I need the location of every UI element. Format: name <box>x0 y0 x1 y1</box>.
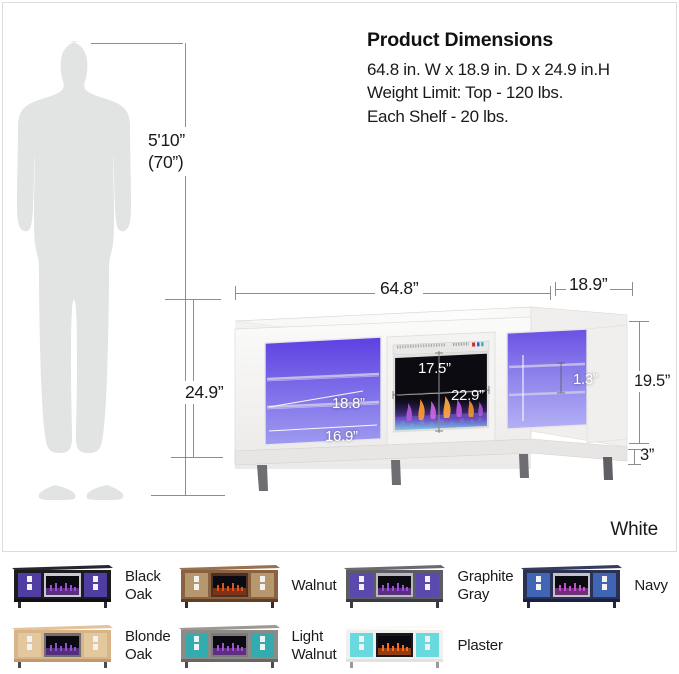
height-feet: 5'10” <box>148 129 185 151</box>
color-swatch[interactable]: Navy <box>513 558 675 614</box>
cabinet-height-label: 19.5” <box>631 371 673 392</box>
color-swatch-thumbnail <box>177 622 282 670</box>
unit-height-line <box>193 299 194 457</box>
color-swatch-label: Light Walnut <box>292 628 337 663</box>
color-swatch-thumbnail <box>177 562 282 610</box>
person-height-label: 5'10” (70”) <box>145 127 188 176</box>
main-color-caption: White <box>610 519 658 541</box>
unit-depth-left-tick <box>555 282 556 296</box>
height-inches: (70”) <box>148 151 185 173</box>
dimension-line-weight-top: Weight Limit: Top - 120 lbs. <box>367 81 677 104</box>
page-title: Product Dimensions <box>367 29 677 52</box>
color-variants-grid: Black Oak Walnut <box>0 558 679 674</box>
color-swatch[interactable]: Blonde Oak <box>4 618 171 674</box>
color-swatch[interactable]: Light Walnut <box>171 618 337 674</box>
tv-stand-product-image <box>231 299 635 504</box>
color-swatch[interactable]: Black Oak <box>4 558 171 614</box>
unit-depth-right-tick <box>632 282 633 296</box>
color-swatch-thumbnail <box>10 562 115 610</box>
dimension-line-size: 64.8 in. W x 18.9 in. D x 24.9 in.H <box>367 58 677 81</box>
color-swatch-label: Black Oak <box>125 568 161 603</box>
color-swatch-label: Plaster <box>457 637 502 655</box>
color-swatch-label: Navy <box>634 577 667 595</box>
unit-height-label: 24.9” <box>181 381 227 404</box>
unit-depth-label: 18.9” <box>566 274 610 295</box>
color-swatch-thumbnail <box>342 562 447 610</box>
human-silhouette-icon <box>15 35 147 505</box>
color-swatch[interactable]: Walnut <box>171 558 337 614</box>
product-dimensions-panel: Product Dimensions 64.8 in. W x 18.9 in.… <box>2 2 677 552</box>
unit-width-right-tick <box>550 286 551 300</box>
unit-width-label: 64.8” <box>375 278 423 299</box>
person-height-line <box>185 43 186 495</box>
color-swatch[interactable]: Plaster <box>336 618 513 674</box>
color-swatch-thumbnail <box>10 622 115 670</box>
color-swatch-label: Walnut <box>292 577 337 595</box>
color-swatch-thumbnail <box>342 622 447 670</box>
unit-height-bottom-tick <box>171 457 223 458</box>
dimension-line-weight-shelf: Each Shelf - 20 lbs. <box>367 105 677 128</box>
color-swatch[interactable]: Graphite Gray <box>336 558 513 614</box>
unit-width-left-tick <box>235 286 236 300</box>
person-height-top-tick <box>91 43 183 44</box>
dimensions-text-block: Product Dimensions 64.8 in. W x 18.9 in.… <box>367 29 677 128</box>
color-swatch-label: Graphite Gray <box>457 568 513 603</box>
person-height-bottom-tick <box>151 495 225 496</box>
color-swatch-label: Blonde Oak <box>125 628 171 663</box>
leg-height-label: 3” <box>640 446 654 465</box>
color-swatch-thumbnail <box>519 562 624 610</box>
